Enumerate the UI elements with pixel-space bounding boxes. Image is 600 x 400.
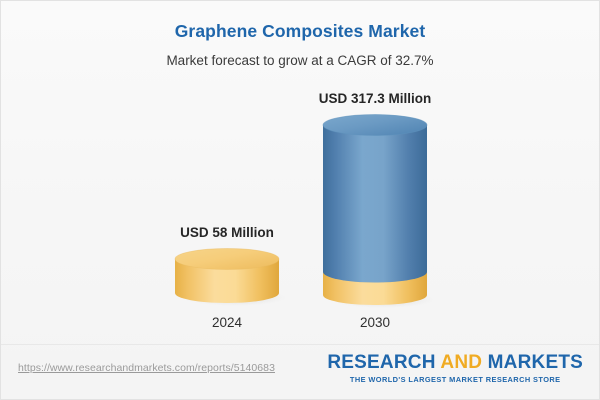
cylinder-2030-segment-growth-body	[323, 125, 427, 283]
header-block: Graphene Composites Market Market foreca…	[1, 1, 599, 68]
footer: https://www.researchandmarkets.com/repor…	[1, 344, 599, 399]
cylinder-2030[interactable]	[323, 114, 427, 310]
brand-word-research: RESEARCH	[327, 352, 435, 373]
axis-label-2030: 2030	[295, 315, 455, 330]
cylinder-2024-svg	[175, 248, 279, 308]
bar-group-2024: USD 58 Million	[147, 225, 307, 308]
brand-wordmark: RESEARCH AND MARKETS	[327, 353, 583, 373]
brand-word-and: AND	[440, 352, 482, 373]
infographic-card: Graphene Composites Market Market foreca…	[0, 0, 600, 400]
brand-word-markets: MARKETS	[488, 352, 583, 373]
brand-logo[interactable]: RESEARCH AND MARKETS THE WORLD'S LARGEST…	[327, 353, 583, 384]
cylinder-2024[interactable]	[175, 248, 279, 308]
page-title: Graphene Composites Market	[1, 1, 599, 42]
value-label-2024: USD 58 Million	[147, 225, 307, 240]
axis-label-2024: 2024	[147, 315, 307, 330]
bar-group-2030: USD 317.3 Million	[295, 91, 455, 310]
source-url-link[interactable]: https://www.researchandmarkets.com/repor…	[18, 362, 275, 374]
value-label-2030: USD 317.3 Million	[295, 91, 455, 106]
brand-tagline: THE WORLD'S LARGEST MARKET RESEARCH STOR…	[327, 375, 583, 384]
cylinder-2030-svg	[323, 114, 427, 310]
chart-subtitle: Market forecast to grow at a CAGR of 32.…	[1, 42, 599, 68]
